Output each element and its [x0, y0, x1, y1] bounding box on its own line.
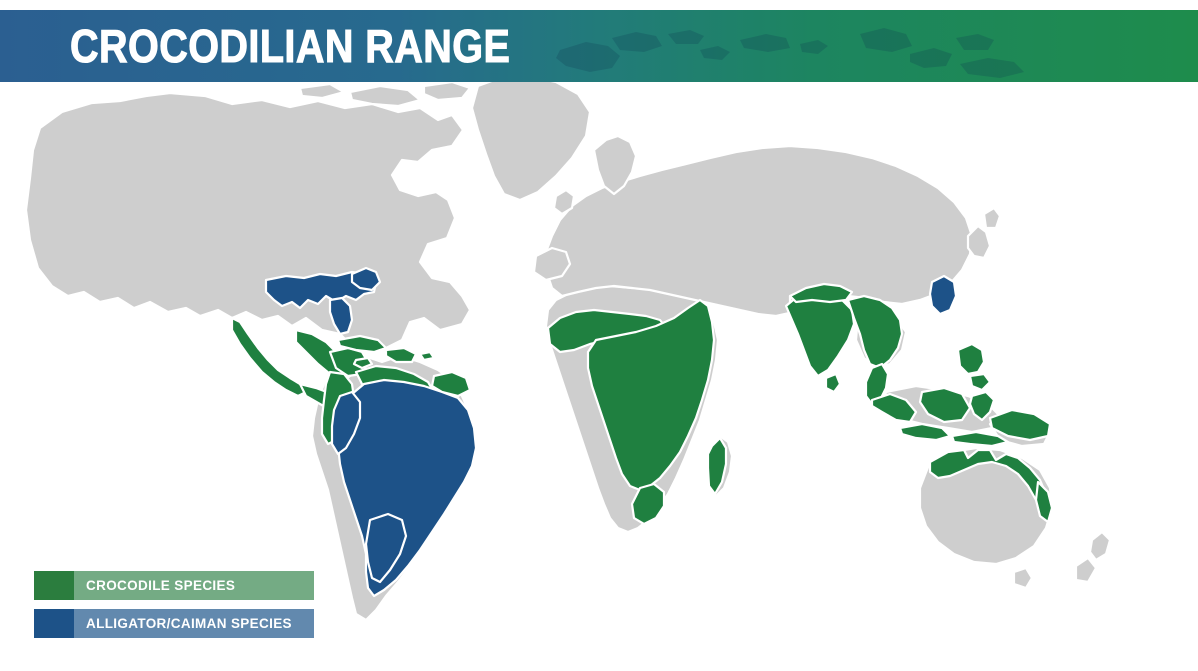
legend-item-crocodile[interactable]: CROCODILE SPECIES [34, 571, 314, 600]
legend-swatch-alligator-caiman [34, 609, 74, 638]
legend-item-alligator-caiman[interactable]: ALLIGATOR/CAIMAN SPECIES [34, 609, 314, 638]
legend-bar-crocodile: CROCODILE SPECIES [74, 571, 314, 600]
legend-swatch-crocodile [34, 571, 74, 600]
range-puerto-rico [420, 352, 434, 360]
crocodilian-range-infographic: CROCODILIAN RANGE CROCODILE SPECIES ALLI… [0, 0, 1198, 671]
legend-label-crocodile: CROCODILE SPECIES [86, 578, 235, 593]
legend: CROCODILE SPECIES ALLIGATOR/CAIMAN SPECI… [34, 571, 314, 638]
legend-bar-alligator-caiman: ALLIGATOR/CAIMAN SPECIES [74, 609, 314, 638]
title-banner: CROCODILIAN RANGE [0, 10, 1198, 82]
banner-silhouette-shapes [556, 28, 1024, 78]
page-title: CROCODILIAN RANGE [70, 23, 510, 69]
land-arctic-islands-2 [424, 82, 470, 100]
legend-label-alligator-caiman: ALLIGATOR/CAIMAN SPECIES [86, 616, 292, 631]
